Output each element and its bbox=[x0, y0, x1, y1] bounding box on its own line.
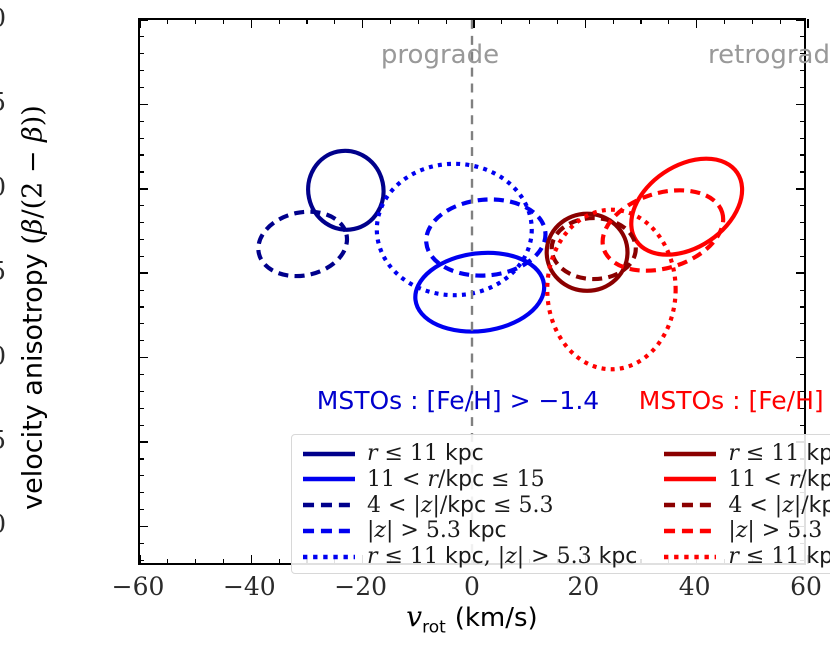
x-tick bbox=[251, 555, 253, 564]
y-tick bbox=[139, 19, 148, 21]
legend-line-swatch bbox=[663, 444, 717, 464]
y-tick-label: 0.50 bbox=[0, 172, 6, 201]
x-tick bbox=[195, 559, 196, 564]
y-tick bbox=[139, 53, 144, 54]
y-tick bbox=[139, 543, 144, 544]
contour-ellipse bbox=[552, 218, 636, 279]
x-tick-label: −60 bbox=[112, 572, 165, 601]
legend-label: |z| > 5.3 kpc bbox=[367, 518, 507, 543]
y-tick-right bbox=[796, 104, 805, 106]
y-tick bbox=[139, 408, 144, 409]
y-tick-right bbox=[800, 154, 805, 155]
x-tick-top bbox=[780, 19, 781, 24]
contour-ellipse bbox=[423, 195, 549, 281]
legend-label: r ≤ 11 kpc bbox=[367, 441, 484, 466]
y-tick-right bbox=[800, 425, 805, 426]
y-tick bbox=[139, 154, 144, 155]
legend-line-swatch bbox=[663, 495, 717, 515]
x-tick bbox=[223, 559, 224, 564]
y-tick-right bbox=[796, 19, 805, 21]
legend-label: 4 < |z|/kpc ≤ 5.3 bbox=[367, 493, 554, 518]
y-tick bbox=[139, 290, 144, 291]
x-tick-top bbox=[585, 19, 587, 28]
x-tick-label: 20 bbox=[567, 572, 599, 601]
legend-item[interactable]: r ≤ 11 kpc bbox=[663, 441, 830, 466]
y-tick bbox=[139, 222, 144, 223]
legend-line-swatch bbox=[663, 469, 717, 489]
y-tick-right bbox=[800, 36, 805, 37]
y-tick-label: 0.25 bbox=[0, 257, 6, 286]
legend-label: 11 < r/kpc ≤ 15 bbox=[367, 467, 545, 492]
legend-item[interactable]: r ≤ 11 kpc, |z| > 5.3 kpc bbox=[302, 544, 637, 569]
x-tick-top bbox=[557, 19, 558, 24]
y-tick-right bbox=[800, 171, 805, 172]
y-tick bbox=[139, 526, 148, 528]
y-tick bbox=[139, 509, 144, 510]
x-tick-label: −20 bbox=[334, 572, 387, 601]
y-tick-label: 0.00 bbox=[0, 341, 6, 370]
x-tick-top bbox=[195, 19, 196, 24]
chart-figure: 1.000.750.500.250.00−0.25−0.50 −60−40−20… bbox=[0, 0, 830, 651]
y-tick-label: −0.25 bbox=[0, 426, 6, 455]
y-tick-right bbox=[796, 357, 805, 359]
y-tick bbox=[139, 323, 144, 324]
x-tick-label: 40 bbox=[679, 572, 711, 601]
annotation-metal-poor: MSTOs : [Fe/H] ≤ −1.4 bbox=[639, 386, 830, 415]
legend-item[interactable]: |z| > 5.3 kpc bbox=[302, 518, 637, 543]
y-tick bbox=[139, 205, 144, 206]
y-tick bbox=[139, 272, 148, 274]
y-tick bbox=[139, 70, 144, 71]
y-tick bbox=[139, 87, 144, 88]
y-tick-right bbox=[800, 340, 805, 341]
x-tick-top bbox=[501, 19, 502, 24]
retrograde-label: retrograde bbox=[708, 40, 830, 70]
legend-label: |z| > 5.3 kpc bbox=[728, 518, 830, 543]
legend-item[interactable]: 4 < |z|/kpc ≤ 5.3 bbox=[663, 493, 830, 518]
contour-ellipse bbox=[547, 210, 675, 370]
x-tick-top bbox=[613, 19, 614, 24]
y-tick-right bbox=[800, 374, 805, 375]
y-tick bbox=[139, 188, 148, 190]
y-tick bbox=[139, 104, 148, 106]
y-tick bbox=[139, 171, 144, 172]
contour-ellipse bbox=[547, 214, 628, 291]
x-axis-title: vrot (km/s) bbox=[406, 600, 537, 638]
prograde-label: prograde bbox=[381, 40, 499, 70]
x-axis-unit: (km/s) bbox=[455, 603, 538, 633]
legend-line-swatch bbox=[302, 521, 356, 541]
contour-ellipse bbox=[252, 204, 353, 284]
y-tick bbox=[139, 306, 144, 307]
y-tick bbox=[139, 239, 144, 240]
y-tick-right bbox=[800, 222, 805, 223]
x-tick-top bbox=[279, 19, 280, 24]
plot-area: prograde retrograde MSTOs : [Fe/H] > −1.… bbox=[138, 18, 806, 565]
x-tick-top bbox=[362, 19, 364, 28]
legend-line-swatch bbox=[663, 521, 717, 541]
y-tick-right bbox=[796, 188, 805, 190]
x-tick-top bbox=[223, 19, 224, 24]
y-tick-label: 0.75 bbox=[0, 88, 6, 117]
y-tick-right bbox=[800, 138, 805, 139]
y-tick bbox=[139, 121, 144, 122]
legend-line-swatch bbox=[302, 547, 356, 567]
legend-line-swatch bbox=[663, 547, 717, 567]
x-tick-top bbox=[529, 19, 530, 24]
x-tick-top bbox=[306, 19, 307, 24]
ellipse-layer bbox=[252, 139, 760, 369]
legend: r ≤ 11 kpc11 < r/kpc ≤ 154 < |z|/kpc ≤ 5… bbox=[291, 434, 830, 574]
x-tick-top bbox=[167, 19, 168, 24]
y-tick-right bbox=[800, 87, 805, 88]
y-tick bbox=[139, 36, 144, 37]
legend-label: 11 < r/kpc ≤ 15 bbox=[728, 467, 830, 492]
legend-line-swatch bbox=[302, 495, 356, 515]
y-tick-right bbox=[800, 239, 805, 240]
y-tick bbox=[139, 458, 144, 459]
y-tick-right bbox=[800, 70, 805, 71]
y-tick bbox=[139, 492, 144, 493]
y-tick-right bbox=[796, 272, 805, 274]
x-axis-subscript: rot bbox=[422, 618, 446, 638]
x-tick-top bbox=[446, 19, 447, 24]
x-tick-label: −40 bbox=[223, 572, 276, 601]
legend-column-metal-poor: r ≤ 11 kpc11 < r/kpc ≤ 154 < |z|/kpc ≤ 5… bbox=[641, 435, 830, 573]
y-tick bbox=[139, 425, 144, 426]
x-tick-top bbox=[807, 19, 809, 28]
contour-ellipse bbox=[593, 177, 734, 285]
legend-item[interactable]: 11 < r/kpc ≤ 15 bbox=[663, 467, 830, 492]
x-tick-top bbox=[390, 19, 391, 24]
contour-ellipse bbox=[377, 164, 532, 295]
y-tick bbox=[139, 560, 144, 561]
legend-item[interactable]: 4 < |z|/kpc ≤ 5.3 bbox=[302, 493, 637, 518]
legend-item[interactable]: r ≤ 11 kpc bbox=[302, 441, 637, 466]
y-tick-right bbox=[800, 306, 805, 307]
x-tick-top bbox=[696, 19, 698, 28]
x-tick bbox=[279, 559, 280, 564]
x-tick bbox=[167, 559, 168, 564]
legend-item[interactable]: r ≤ 11 kpc, |z| > 5.3 kpc bbox=[663, 544, 830, 569]
annotation-metal-rich: MSTOs : [Fe/H] > −1.4 bbox=[317, 386, 599, 415]
y-tick-right bbox=[800, 256, 805, 257]
legend-label: r ≤ 11 kpc, |z| > 5.3 kpc bbox=[728, 544, 830, 569]
legend-label: r ≤ 11 kpc, |z| > 5.3 kpc bbox=[367, 544, 637, 569]
y-tick bbox=[139, 475, 144, 476]
y-tick-right bbox=[800, 205, 805, 206]
y-axis-title-text: velocity anisotropy bbox=[18, 245, 49, 510]
y-tick bbox=[139, 138, 144, 139]
x-tick-label: 60 bbox=[790, 572, 822, 601]
y-axis-title: velocity anisotropy (β/(2 − β)) bbox=[18, 28, 49, 588]
x-tick-top bbox=[334, 19, 335, 24]
x-tick-top bbox=[724, 19, 725, 24]
y-tick bbox=[139, 357, 148, 359]
x-tick-top bbox=[668, 19, 669, 24]
x-tick-label: 0 bbox=[464, 572, 480, 601]
y-tick bbox=[139, 441, 148, 443]
y-tick bbox=[139, 374, 144, 375]
x-tick-top bbox=[251, 19, 253, 28]
y-tick-label: −0.50 bbox=[0, 510, 6, 539]
legend-label: r ≤ 11 kpc bbox=[728, 441, 830, 466]
x-tick-top bbox=[473, 19, 475, 28]
y-tick-label: 1.00 bbox=[0, 4, 6, 33]
legend-line-swatch bbox=[302, 444, 356, 464]
y-tick-right bbox=[800, 290, 805, 291]
y-tick-right bbox=[800, 121, 805, 122]
y-tick bbox=[139, 391, 144, 392]
legend-item[interactable]: |z| > 5.3 kpc bbox=[663, 518, 830, 543]
legend-item[interactable]: 11 < r/kpc ≤ 15 bbox=[302, 467, 637, 492]
legend-column-metal-rich: r ≤ 11 kpc11 < r/kpc ≤ 154 < |z|/kpc ≤ 5… bbox=[292, 435, 641, 573]
y-tick bbox=[139, 340, 144, 341]
y-tick-right bbox=[800, 323, 805, 324]
x-tick-top bbox=[752, 19, 753, 24]
x-tick-top bbox=[640, 19, 641, 24]
legend-label: 4 < |z|/kpc ≤ 5.3 bbox=[728, 493, 830, 518]
x-tick-top bbox=[418, 19, 419, 24]
y-tick bbox=[139, 256, 144, 257]
legend-line-swatch bbox=[302, 469, 356, 489]
